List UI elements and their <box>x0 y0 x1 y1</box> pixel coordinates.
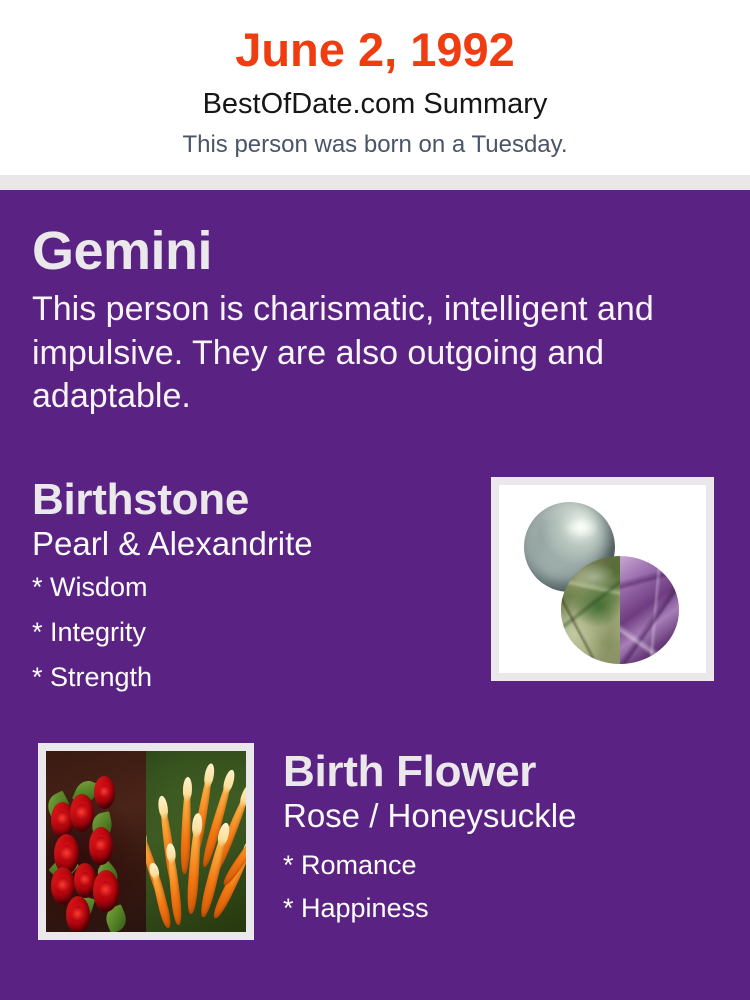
card-header: June 2, 1992 BestOfDate.com Summary This… <box>0 0 750 175</box>
header-divider <box>0 175 750 190</box>
birthstone-image-frame <box>491 477 714 681</box>
birth-flower-image <box>46 751 246 932</box>
alexandrite-gem-icon <box>561 556 679 663</box>
birthstone-traits-list: * Wisdom * Integrity * Strength <box>32 574 472 691</box>
birth-flower-image-frame <box>38 743 254 940</box>
rose-bloom <box>66 896 90 932</box>
honeysuckle-photo-half <box>146 751 246 932</box>
birthstone-names: Pearl & Alexandrite <box>32 525 472 563</box>
gem-highlight <box>571 563 618 591</box>
birthstone-section: Birthstone Pearl & Alexandrite * Wisdom … <box>32 476 472 709</box>
birth-day-note: This person was born on a Tuesday. <box>0 119 750 157</box>
list-item: * Wisdom <box>32 574 472 601</box>
rose-bloom <box>93 870 119 912</box>
content-panel: Gemini This person is charismatic, intel… <box>0 190 750 1000</box>
list-item: * Integrity <box>32 619 472 646</box>
rose-bloom <box>89 827 113 865</box>
alexandrite-faceted-half <box>620 556 679 663</box>
site-summary-label: BestOfDate.com Summary <box>0 73 750 119</box>
list-item: * Strength <box>32 664 472 691</box>
birth-flower-traits-list: * Romance * Happiness <box>283 852 723 922</box>
page-title-date: June 2, 1992 <box>0 0 750 73</box>
birth-flower-names: Rose / Honeysuckle <box>283 797 723 835</box>
list-item: * Romance <box>283 852 723 879</box>
bestofdate-summary-card: June 2, 1992 BestOfDate.com Summary This… <box>0 0 750 1000</box>
zodiac-section: Gemini This person is charismatic, intel… <box>32 223 722 419</box>
rose-bloom <box>70 794 94 832</box>
roses-photo-half <box>46 751 146 932</box>
rose-bloom <box>94 776 115 809</box>
zodiac-sign-name: Gemini <box>32 223 722 280</box>
birthstone-image <box>499 485 706 673</box>
birth-flower-section: Birth Flower Rose / Honeysuckle * Romanc… <box>283 748 723 938</box>
birth-flower-heading: Birth Flower <box>283 748 723 796</box>
list-item: * Happiness <box>283 895 723 922</box>
zodiac-description: This person is charismatic, intelligent … <box>32 288 692 420</box>
birthstone-heading: Birthstone <box>32 476 472 524</box>
